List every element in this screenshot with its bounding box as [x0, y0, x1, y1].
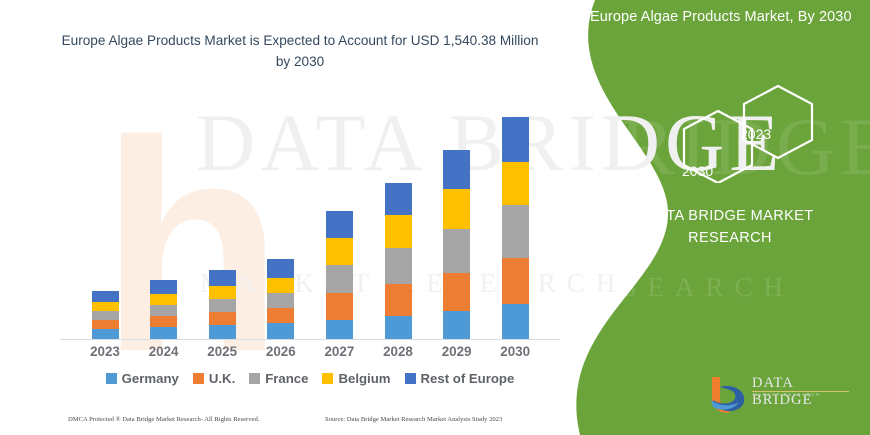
- segment-france-2028: [385, 248, 412, 284]
- segment-u-k--2028: [385, 284, 412, 316]
- segment-germany-2028: [385, 316, 412, 339]
- infographic-canvas: h DATA BRIDGE MARKET RESEARCH BRIDGE RES…: [0, 0, 870, 435]
- category-label-2024: 2024: [140, 344, 188, 359]
- bar-2025[interactable]: [209, 270, 236, 339]
- segment-belgium-2026: [267, 278, 294, 293]
- legend-label: Belgium: [338, 371, 390, 386]
- bar-2024[interactable]: [150, 280, 177, 339]
- segment-france-2029: [443, 229, 470, 273]
- segment-rest-of-europe-2029: [443, 150, 470, 189]
- bar-2030[interactable]: [502, 117, 529, 339]
- logo-b-icon: [706, 373, 750, 413]
- segment-belgium-2025: [209, 286, 236, 299]
- legend-item-belgium[interactable]: Belgium: [322, 371, 390, 386]
- segment-belgium-2029: [443, 189, 470, 229]
- legend-item-germany[interactable]: Germany: [106, 371, 179, 386]
- legend-swatch-icon: [193, 373, 204, 384]
- segment-belgium-2027: [326, 238, 353, 265]
- footer-copyright: DMCA Protected ® Data Bridge Market Rese…: [68, 416, 259, 423]
- chart-baseline: [60, 339, 560, 340]
- brand-name-line1: DATA BRIDGE MARKET: [600, 205, 860, 227]
- segment-u-k--2023: [92, 320, 119, 329]
- category-label-2023: 2023: [81, 344, 129, 359]
- hexagon-group: 2023 2030: [660, 78, 840, 183]
- legend-item-rest-of-europe[interactable]: Rest of Europe: [405, 371, 515, 386]
- segment-france-2023: [92, 311, 119, 320]
- bar-2028[interactable]: [385, 183, 412, 339]
- bar-2023[interactable]: [92, 291, 119, 339]
- segment-germany-2029: [443, 311, 470, 339]
- category-axis: 20232024202520262027202820292030: [60, 344, 560, 362]
- segment-belgium-2028: [385, 215, 412, 248]
- segment-belgium-2024: [150, 294, 177, 305]
- segment-france-2025: [209, 299, 236, 312]
- brand-name-line2: RESEARCH: [600, 227, 860, 249]
- segment-germany-2024: [150, 327, 177, 339]
- segment-belgium-2023: [92, 302, 119, 311]
- category-label-2026: 2026: [257, 344, 305, 359]
- panel-title: Europe Algae Products Market, By 2030: [590, 8, 860, 27]
- segment-germany-2027: [326, 320, 353, 339]
- legend-label: Germany: [122, 371, 179, 386]
- category-label-2027: 2027: [315, 344, 363, 359]
- segment-rest-of-europe-2030: [502, 117, 529, 162]
- segment-u-k--2024: [150, 316, 177, 327]
- segment-france-2027: [326, 265, 353, 293]
- segment-u-k--2030: [502, 258, 529, 304]
- legend-swatch-icon: [322, 373, 333, 384]
- segment-germany-2025: [209, 325, 236, 339]
- category-label-2030: 2030: [491, 344, 539, 359]
- segment-france-2030: [502, 205, 529, 258]
- segment-belgium-2030: [502, 162, 529, 205]
- category-label-2025: 2025: [198, 344, 246, 359]
- segment-france-2024: [150, 305, 177, 316]
- logo-tagline: MARKET RESEARCH: [753, 392, 821, 397]
- segment-rest-of-europe-2027: [326, 211, 353, 238]
- segment-germany-2026: [267, 323, 294, 339]
- segment-germany-2030: [502, 304, 529, 339]
- segment-u-k--2027: [326, 293, 353, 320]
- bar-2029[interactable]: [443, 150, 470, 339]
- segment-rest-of-europe-2025: [209, 270, 236, 286]
- segment-u-k--2025: [209, 312, 236, 325]
- segment-france-2026: [267, 293, 294, 308]
- legend-label: U.K.: [209, 371, 235, 386]
- category-label-2028: 2028: [374, 344, 422, 359]
- bar-2027[interactable]: [326, 211, 353, 339]
- segment-rest-of-europe-2024: [150, 280, 177, 294]
- hexagon-label-2023: 2023: [740, 126, 771, 142]
- segment-rest-of-europe-2023: [92, 291, 119, 302]
- stacked-bar-chart: [60, 95, 560, 340]
- legend-item-u-k-[interactable]: U.K.: [193, 371, 235, 386]
- legend-label: France: [265, 371, 308, 386]
- category-label-2029: 2029: [433, 344, 481, 359]
- bar-2026[interactable]: [267, 259, 294, 339]
- legend-swatch-icon: [405, 373, 416, 384]
- segment-germany-2023: [92, 329, 119, 339]
- data-bridge-logo: DATA BRIDGE MARKET RESEARCH: [706, 373, 856, 413]
- segment-u-k--2026: [267, 308, 294, 323]
- brand-name: DATA BRIDGE MARKET RESEARCH: [600, 205, 860, 250]
- chart-legend: GermanyU.K.FranceBelgiumRest of Europe: [60, 368, 560, 388]
- legend-label: Rest of Europe: [421, 371, 515, 386]
- chart-title: Europe Algae Products Market is Expected…: [60, 30, 540, 72]
- footer: DMCA Protected ® Data Bridge Market Rese…: [0, 416, 580, 432]
- legend-swatch-icon: [106, 373, 117, 384]
- segment-rest-of-europe-2028: [385, 183, 412, 215]
- hexagon-2023: [744, 86, 812, 158]
- legend-item-france[interactable]: France: [249, 371, 308, 386]
- legend-swatch-icon: [249, 373, 260, 384]
- segment-rest-of-europe-2026: [267, 259, 294, 278]
- footer-source: Source: Data Bridge Market Research Mark…: [325, 416, 502, 423]
- segment-u-k--2029: [443, 273, 470, 311]
- watermark-green-research: RESEARCH: [565, 272, 794, 303]
- hexagon-label-2030: 2030: [682, 163, 713, 179]
